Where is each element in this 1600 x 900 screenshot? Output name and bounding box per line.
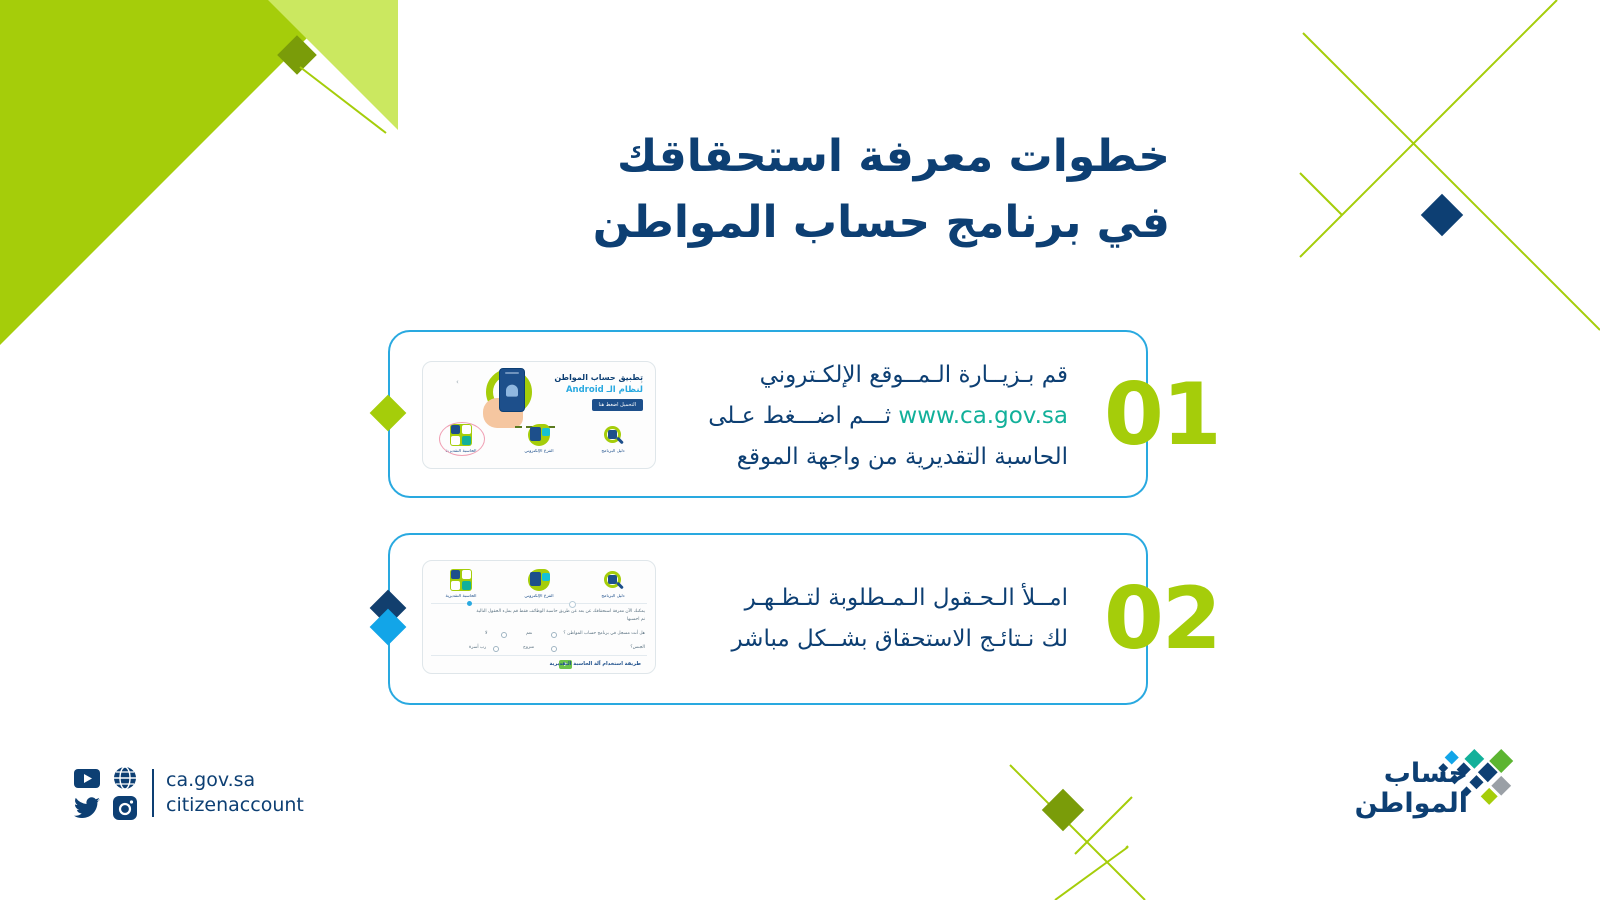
service-guide-label-2: دليل البرنامج (583, 594, 644, 599)
radio-married-label: متزوج (523, 645, 534, 650)
footer-divider (152, 769, 154, 817)
service-branch-label-2: الفرع الإلكتروني (509, 594, 570, 599)
form-divider-bottom (431, 655, 647, 656)
green-triangle-decoration (0, 0, 345, 345)
service-branch[interactable]: الفرع الإلكتروني (507, 424, 571, 454)
radio-no[interactable] (501, 632, 507, 638)
footer: ca.gov.sa citizenaccount (72, 765, 304, 821)
light-green-triangle-decoration (268, 0, 398, 130)
step-01-screenshot[interactable]: ‹ › تطبيق حساب المواطن لنظام الـ Android… (422, 361, 656, 469)
olive-diamond-top-left (277, 35, 317, 75)
form-divider-top (431, 603, 647, 604)
slide-canvas: خطوات معرفة استحقاقك في برنامج حساب المو… (0, 0, 1600, 900)
step-02-line-1: امــلأ الـحـقول الـمـطلوبة لتـظـهـر (678, 578, 1068, 619)
social-icons (72, 765, 140, 821)
service-branch-label: الفرع الإلكتروني (509, 449, 570, 454)
radio-yes[interactable] (551, 632, 557, 638)
step-number-01: 01 (1104, 372, 1220, 458)
footer-website[interactable]: ca.gov.sa (166, 768, 304, 793)
form-field-label-1: هل أنت مسجل في برنامج حساب المواطن ؟ (563, 631, 645, 636)
progress-dot-inactive (569, 601, 576, 608)
globe-icon[interactable] (112, 765, 138, 791)
radio-no-label: لا (485, 631, 488, 636)
step-01-line-3: الحاسبة التقديرية من واجهة الموقع (678, 437, 1068, 478)
step-02-line-2: لك نـتائـج الاستحقاق بشــكل مباشر (678, 619, 1068, 660)
step-01-line-2: www.ca.gov.sa ثـــم اضـــغط عـلى (678, 396, 1068, 437)
service-guide-2[interactable]: دليل البرنامج (581, 569, 645, 599)
calculator-icon (450, 569, 472, 591)
service-branch-2[interactable]: الفرع الإلكتروني (507, 569, 571, 599)
service-icon-row: الحاسبة التقديرية الفرع الإلكتروني دليل … (423, 362, 655, 468)
branch-icon (528, 569, 550, 591)
service-guide[interactable]: دليل البرنامج (581, 424, 645, 454)
youtube-icon[interactable] (74, 765, 100, 791)
calculator-highlight-circle (439, 422, 485, 456)
service-icon-row-2: الحاسبة التقديرية الفرع الإلكتروني دليل … (423, 561, 655, 673)
title-line-2: في برنامج حساب المواطن (380, 190, 1170, 256)
video-label[interactable]: طريقة استخدام آلة الحاسبة التقديرية (549, 661, 641, 667)
step-01-line-1: قم بـزيــارة الـمــوقع الإلكـتروني (678, 355, 1068, 396)
step-text-02: امــلأ الـحـقول الـمـطلوبة لتـظـهـر لك ن… (678, 578, 1068, 660)
service-guide-label: دليل البرنامج (583, 449, 644, 454)
guide-search-icon (602, 569, 624, 591)
guide-search-icon (602, 424, 624, 446)
website-url[interactable]: www.ca.gov.sa (898, 403, 1068, 429)
step-02-screenshot[interactable]: الحاسبة التقديرية الفرع الإلكتروني دليل … (422, 560, 656, 674)
twitter-icon[interactable] (74, 795, 100, 821)
page-title: خطوات معرفة استحقاقك في برنامج حساب المو… (380, 124, 1170, 256)
step-text-01: قم بـزيــارة الـمــوقع الإلكـتروني www.c… (678, 355, 1068, 478)
branch-icon (528, 424, 550, 446)
title-line-1: خطوات معرفة استحقاقك (380, 124, 1170, 190)
step-number-02: 02 (1104, 576, 1220, 662)
radio-head-label: رب أسرة (469, 645, 486, 650)
olive-diamond-bottom-right (1042, 789, 1084, 831)
progress-dot-active (467, 601, 472, 606)
citizen-account-logo: حساب المواطن (1340, 735, 1520, 840)
form-note-2: ثم احسبها (627, 617, 645, 622)
radio-head[interactable] (493, 646, 499, 652)
navy-diamond-top-right (1421, 194, 1463, 236)
logo-mosaic-icon (1434, 735, 1526, 811)
step-01-line-2-text: ثـــم اضـــغط عـلى (708, 403, 891, 429)
service-calculator-label-2: الحاسبة التقديرية (431, 594, 492, 599)
service-calculator-2[interactable]: الحاسبة التقديرية (429, 569, 493, 599)
instagram-icon[interactable] (112, 795, 138, 821)
radio-yes-label: نعم (526, 631, 532, 636)
footer-handle[interactable]: citizenaccount (166, 793, 304, 818)
form-field-label-2: الجنس؟ (630, 645, 645, 650)
footer-links: ca.gov.sa citizenaccount (166, 768, 304, 818)
radio-married[interactable] (551, 646, 557, 652)
form-note: يمكنك الآن معرفة استحقاقك عن بعد عن طريق… (476, 609, 645, 614)
